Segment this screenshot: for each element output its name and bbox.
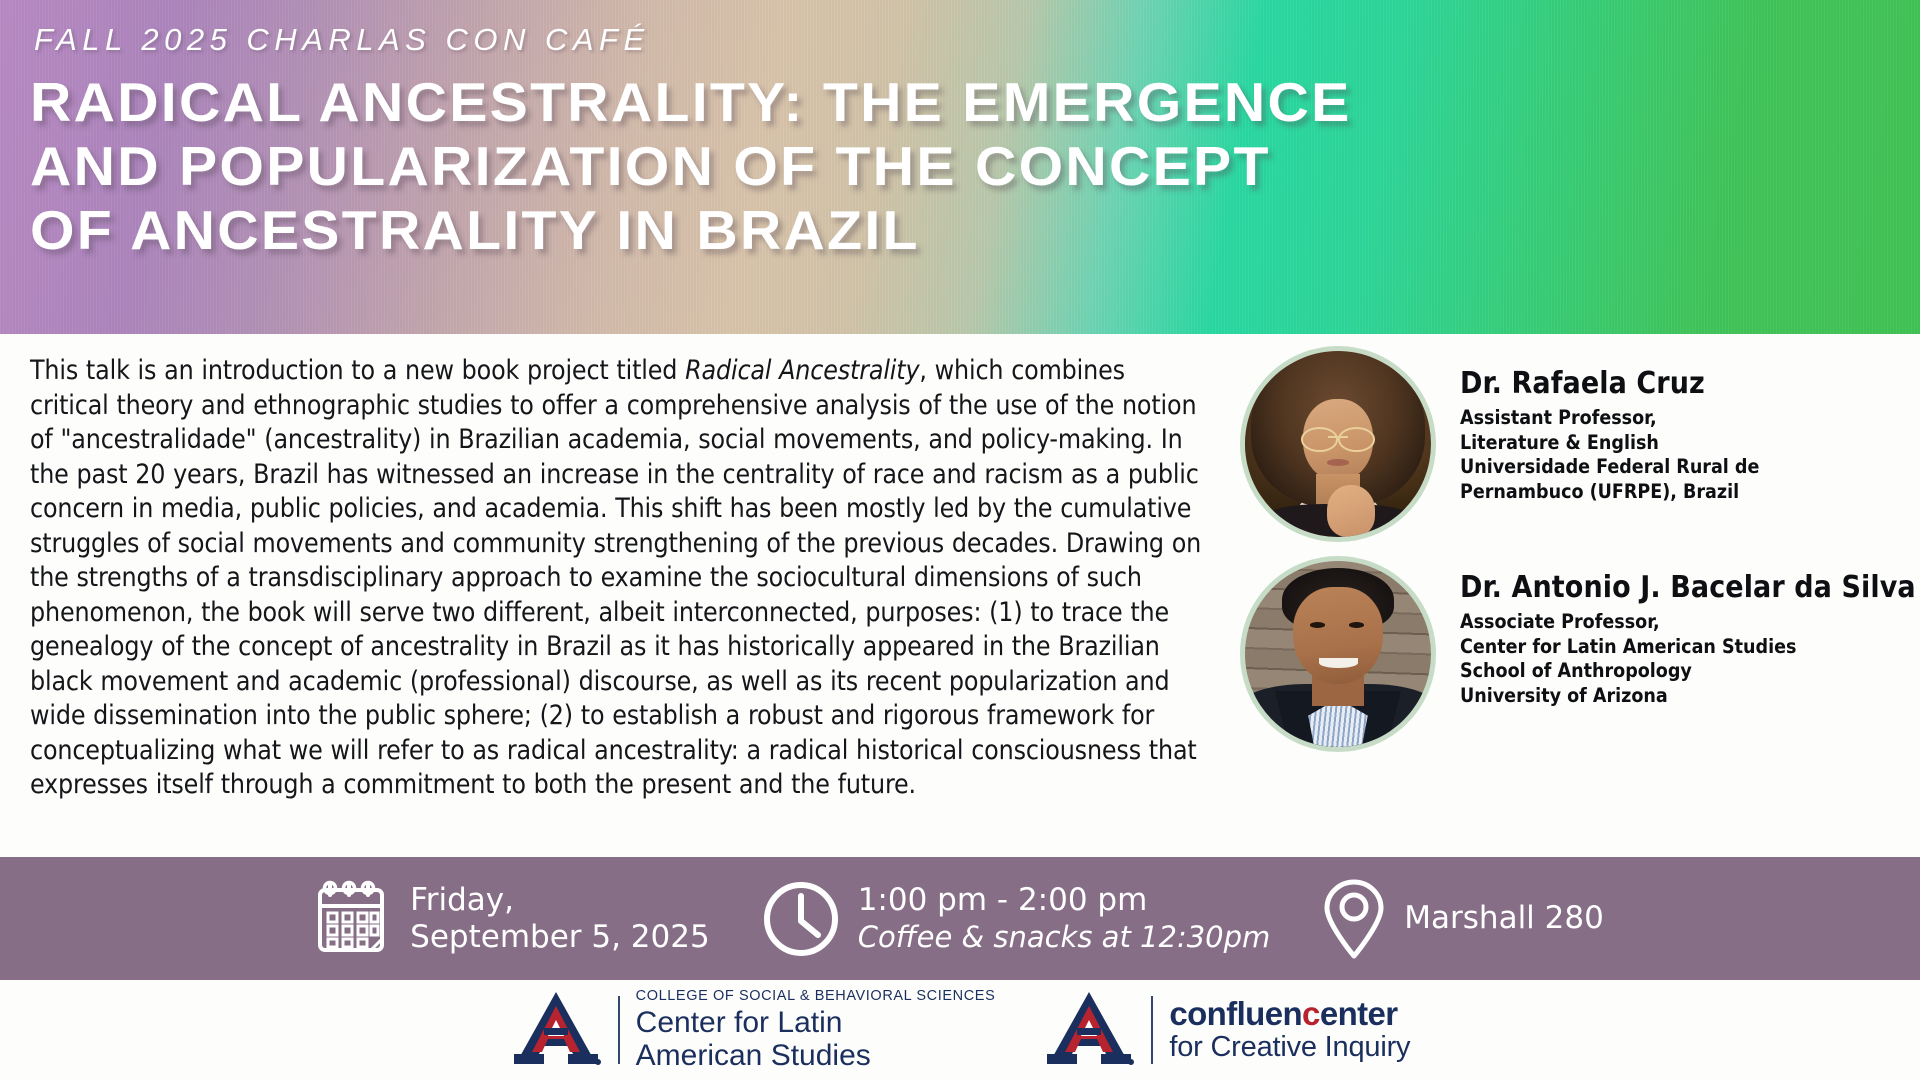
cls-line-2: American Studies xyxy=(636,1039,996,1072)
speaker-affiliation-1: Assistant Professor, Literature & Englis… xyxy=(1460,406,1759,504)
speaker-info-1: Dr. Rafaela Cruz Assistant Professor, Li… xyxy=(1460,346,1759,504)
clock-icon xyxy=(762,880,840,958)
speaker-1-aff-line-2: Literature & English xyxy=(1460,431,1759,456)
speaker-2-aff-line-1: Associate Professor, xyxy=(1460,610,1916,635)
logo-confluencenter: confluencenter for Creative Inquiry xyxy=(1043,990,1410,1070)
confluencenter-main: confluencenter xyxy=(1169,997,1410,1031)
flyer-header: FALL 2025 CHARLAS CON CAFÉ RADICAL ANCES… xyxy=(0,0,1920,334)
speaker-2-aff-line-4: University of Arizona xyxy=(1460,684,1916,709)
speaker-2-aff-line-2: Center for Latin American Studies xyxy=(1460,635,1916,660)
abstract-part1: This talk is an introduction to a new bo… xyxy=(30,355,685,386)
university-of-arizona-a-icon-2 xyxy=(1043,990,1135,1070)
speaker-name-2: Dr. Antonio J. Bacelar da Silva xyxy=(1460,570,1916,606)
speaker-name-1: Dr. Rafaela Cruz xyxy=(1460,366,1759,402)
confluencenter-sub: for Creative Inquiry xyxy=(1169,1031,1410,1063)
speaker-photo-2 xyxy=(1240,556,1436,752)
speaker-affiliation-2: Associate Professor, Center for Latin Am… xyxy=(1460,610,1916,708)
confluencenter-wordmark: confluencenter for Creative Inquiry xyxy=(1169,997,1410,1063)
event-time-text: 1:00 pm - 2:00 pm Coffee & snacks at 12:… xyxy=(858,882,1271,956)
speaker-card-2: Dr. Antonio J. Bacelar da Silva Associat… xyxy=(1240,556,1916,752)
cc-part-c: c xyxy=(1302,995,1320,1032)
cls-line-1: Center for Latin xyxy=(636,1006,996,1039)
speaker-card-1: Dr. Rafaela Cruz Assistant Professor, Li… xyxy=(1240,346,1759,542)
abstract-text: This talk is an introduction to a new bo… xyxy=(30,354,1210,803)
cls-eyebrow: COLLEGE OF SOCIAL & BEHAVIORAL SCIENCES xyxy=(636,988,996,1004)
calendar-icon xyxy=(316,879,392,959)
title-line-3: OF ANCESTRALITY IN BRAZIL xyxy=(30,198,1920,262)
flyer-body: This talk is an introduction to a new bo… xyxy=(0,334,1920,857)
university-of-arizona-a-icon xyxy=(510,990,602,1070)
speaker-1-aff-line-1: Assistant Professor, xyxy=(1460,406,1759,431)
event-time: 1:00 pm - 2:00 pm Coffee & snacks at 12:… xyxy=(762,880,1271,958)
abstract-part2: , which combines critical theory and eth… xyxy=(30,355,1201,800)
event-date-line-1: Friday, xyxy=(410,882,710,919)
speaker-1-aff-line-3: Universidade Federal Rural de xyxy=(1460,455,1759,480)
logo-center-for-latin-american-studies: COLLEGE OF SOCIAL & BEHAVIORAL SCIENCES … xyxy=(510,988,996,1072)
page-title: RADICAL ANCESTRALITY: THE EMERGENCE AND … xyxy=(30,70,1920,262)
speaker-1-aff-line-4: Pernambuco (UFRPE), Brazil xyxy=(1460,480,1759,505)
event-time-main: 1:00 pm - 2:00 pm xyxy=(858,882,1271,919)
location-pin-icon xyxy=(1322,877,1386,961)
event-time-sub: Coffee & snacks at 12:30pm xyxy=(858,919,1271,956)
book-title-italic: Radical Ancestrality xyxy=(685,355,919,386)
title-line-1: RADICAL ANCESTRALITY: THE EMERGENCE xyxy=(30,70,1920,134)
logo-divider-2 xyxy=(1151,996,1153,1064)
event-location-text: Marshall 280 xyxy=(1404,900,1604,937)
event-date-text: Friday, September 5, 2025 xyxy=(410,882,710,956)
speaker-2-aff-line-3: School of Anthropology xyxy=(1460,659,1916,684)
logo-divider xyxy=(618,996,620,1064)
speaker-photo-1 xyxy=(1240,346,1436,542)
cc-part-b: enter xyxy=(1320,995,1398,1032)
sponsor-logos: COLLEGE OF SOCIAL & BEHAVIORAL SCIENCES … xyxy=(0,980,1920,1080)
event-date-line-2: September 5, 2025 xyxy=(410,919,710,956)
event-location: Marshall 280 xyxy=(1322,877,1604,961)
event-flyer: FALL 2025 CHARLAS CON CAFÉ RADICAL ANCES… xyxy=(0,0,1920,1080)
event-date: Friday, September 5, 2025 xyxy=(316,879,710,959)
speaker-info-2: Dr. Antonio J. Bacelar da Silva Associat… xyxy=(1460,556,1916,708)
cls-wordmark: COLLEGE OF SOCIAL & BEHAVIORAL SCIENCES … xyxy=(636,988,996,1072)
cc-part-a: confluen xyxy=(1169,995,1302,1032)
title-line-2: AND POPULARIZATION OF THE CONCEPT xyxy=(30,134,1920,198)
series-kicker: FALL 2025 CHARLAS CON CAFÉ xyxy=(34,22,650,58)
event-details-bar: Friday, September 5, 2025 1:00 pm - 2:00… xyxy=(0,857,1920,980)
